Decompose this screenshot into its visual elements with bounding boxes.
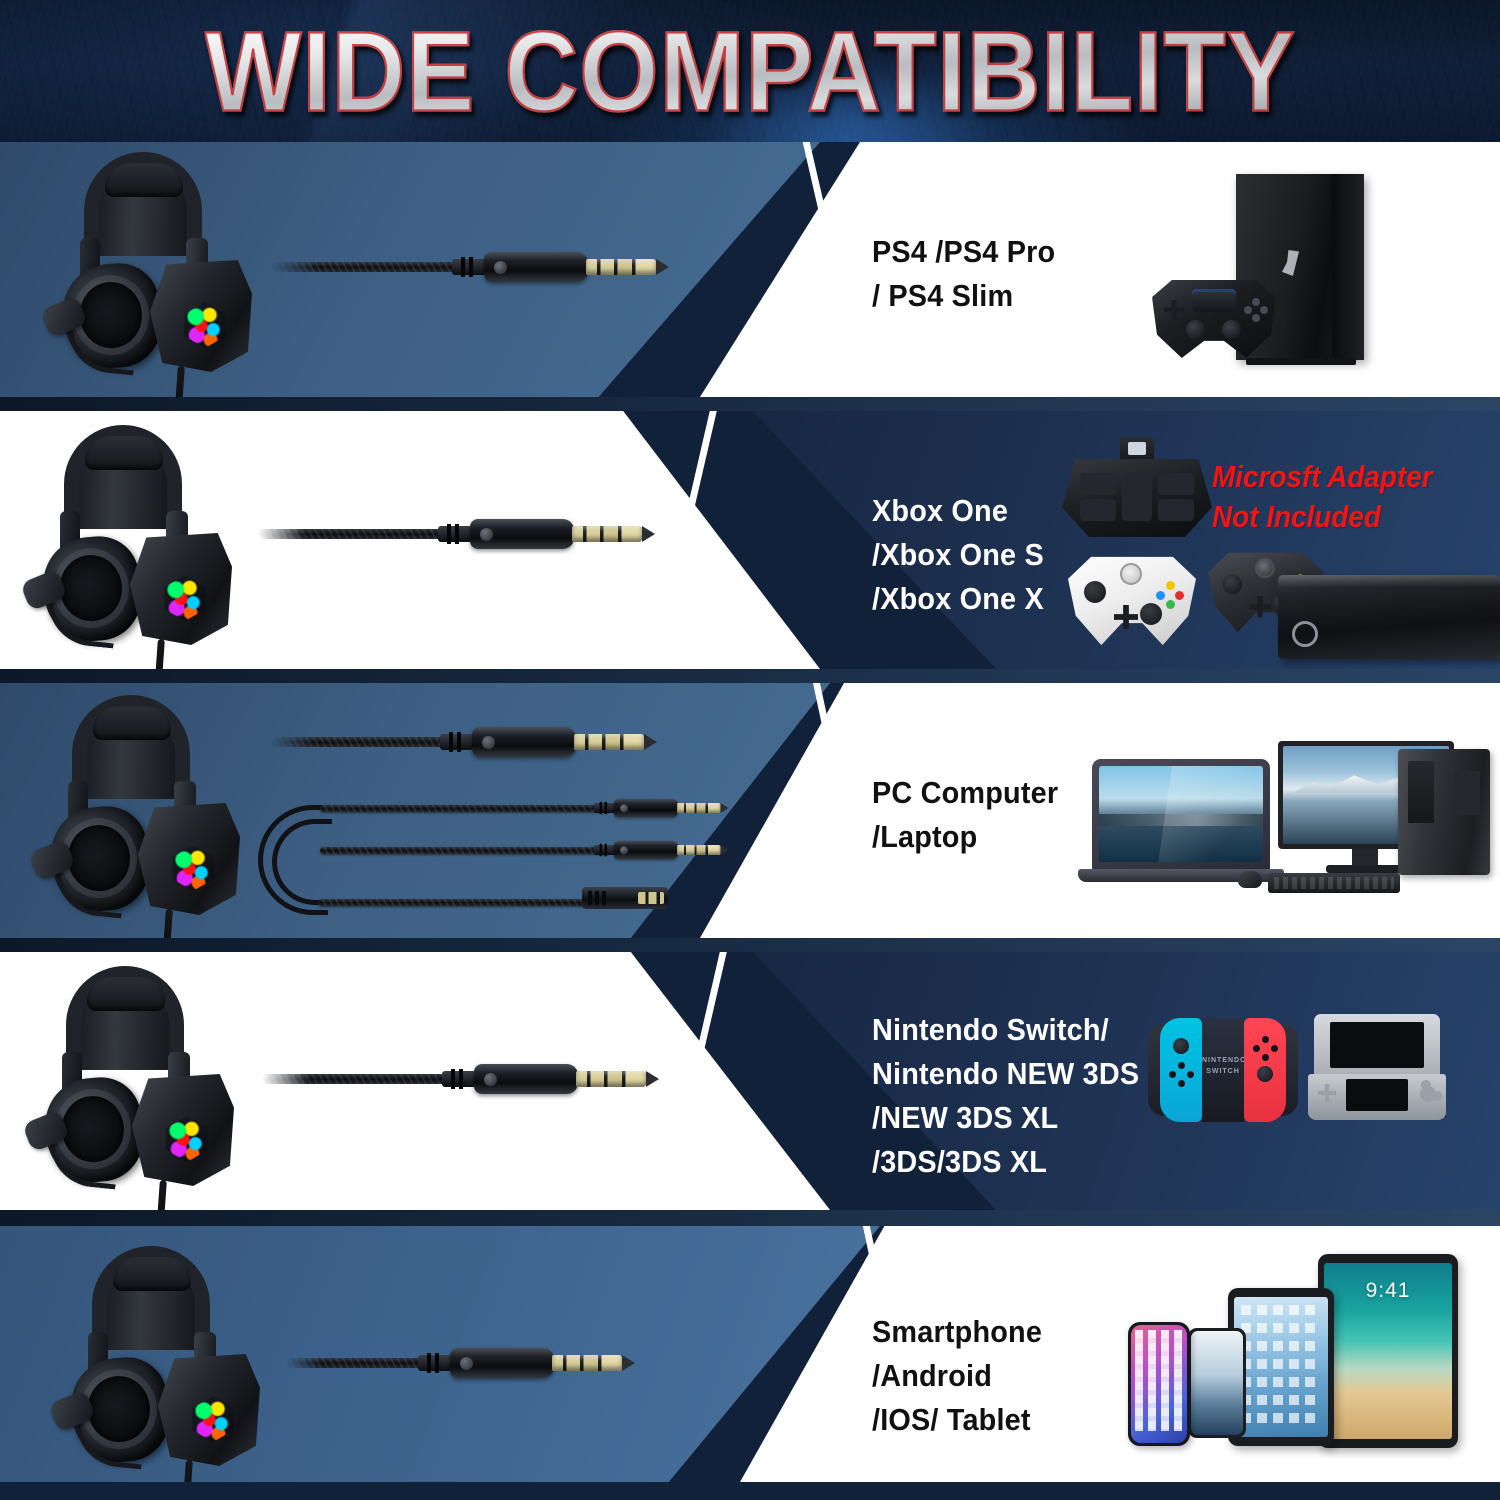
row-gap-3 [0, 938, 1500, 952]
cable-nintendo [262, 1074, 472, 1084]
mouse [1238, 871, 1262, 888]
switch-right-stick [1257, 1066, 1273, 1082]
ds4-right-stick [1222, 320, 1241, 339]
cable-xbox [258, 529, 468, 539]
ds4-touchpad [1192, 292, 1236, 312]
row-mobile: Smartphone /Android /IOS/ Tablet 9:41 [0, 1226, 1500, 1482]
cable-splitter-a [320, 805, 610, 812]
headset-image [46, 695, 256, 938]
row-nintendo-label: Nintendo Switch/ Nintendo NEW 3DS /NEW 3… [872, 1008, 1225, 1184]
ipad-clock: 9:41 [1324, 1279, 1452, 1303]
row-ps4-label: PS4 /PS4 Pro / PS4 Slim [872, 230, 1179, 318]
headset-image [66, 1246, 276, 1482]
headset-top-pad [105, 163, 183, 197]
headset-top-pad [93, 706, 171, 740]
ds4-left-stick [1186, 320, 1205, 339]
ps4-console-stand [1246, 358, 1356, 365]
new-3ds-xl [1308, 1014, 1446, 1120]
cable-splitter-b [320, 847, 610, 854]
headset-top-pad [87, 977, 165, 1011]
wide-compatibility-infographic: WIDE COMPATIBILITY PS4 /PS4 Pro / PS4 Sl… [0, 0, 1500, 1500]
headset-image [40, 966, 250, 1210]
cable-ps4 [272, 262, 482, 272]
switch-abxy-buttons [1253, 1036, 1277, 1060]
xbox-left-stick [1222, 574, 1242, 594]
3ds-bottom-screen [1308, 1074, 1446, 1120]
microsoft-adapter-note: Microsft Adapter Not Included [1212, 457, 1473, 536]
headset-cord [162, 909, 173, 938]
dualshock4-controller [1152, 280, 1276, 358]
row-gap-2 [0, 669, 1500, 683]
header-banner: WIDE COMPATIBILITY [0, 0, 1500, 142]
row-nintendo: Nintendo Switch/ Nintendo NEW 3DS /NEW 3… [0, 952, 1500, 1210]
xbox-guide-button-icon [1255, 558, 1275, 578]
row-ps4: PS4 /PS4 Pro / PS4 Slim [0, 142, 1500, 397]
row-gap-1 [0, 397, 1500, 411]
headset-cord [156, 1180, 167, 1210]
row-xbox-label: Xbox One /Xbox One S /Xbox One X [872, 489, 1188, 621]
keyboard [1268, 873, 1400, 893]
desktop-tower [1398, 749, 1490, 875]
row-gap-4 [0, 1210, 1500, 1226]
headset-cord [174, 366, 185, 397]
headset-image [58, 152, 268, 397]
headset-cord [182, 1460, 193, 1482]
row-xbox: Xbox One /Xbox One S /Xbox One X Microsf… [0, 411, 1500, 669]
headset-top-pad [85, 436, 163, 470]
headset-cord [154, 639, 165, 669]
page-title: WIDE COMPATIBILITY [205, 14, 1296, 128]
ipad: 9:41 [1318, 1254, 1458, 1448]
ds4-face-buttons [1244, 298, 1268, 322]
row-pc: PC Computer /Laptop [0, 683, 1500, 938]
row-mobile-label: Smartphone /Android /IOS/ Tablet [872, 1310, 1179, 1442]
xbox-one-x-console [1278, 575, 1500, 659]
ps4-pro-console [1140, 170, 1380, 370]
female-jack-socket [582, 887, 668, 909]
galaxy-phone [1188, 1328, 1246, 1438]
galaxy-screen-wallpaper [1191, 1331, 1243, 1435]
row-pc-label: PC Computer /Laptop [872, 771, 1179, 859]
monitor-foot [1326, 865, 1406, 873]
headset-image [38, 425, 248, 669]
cable-splitter-c [318, 899, 588, 906]
headset-top-pad [113, 1257, 191, 1291]
3ds-top-screen [1314, 1014, 1440, 1076]
